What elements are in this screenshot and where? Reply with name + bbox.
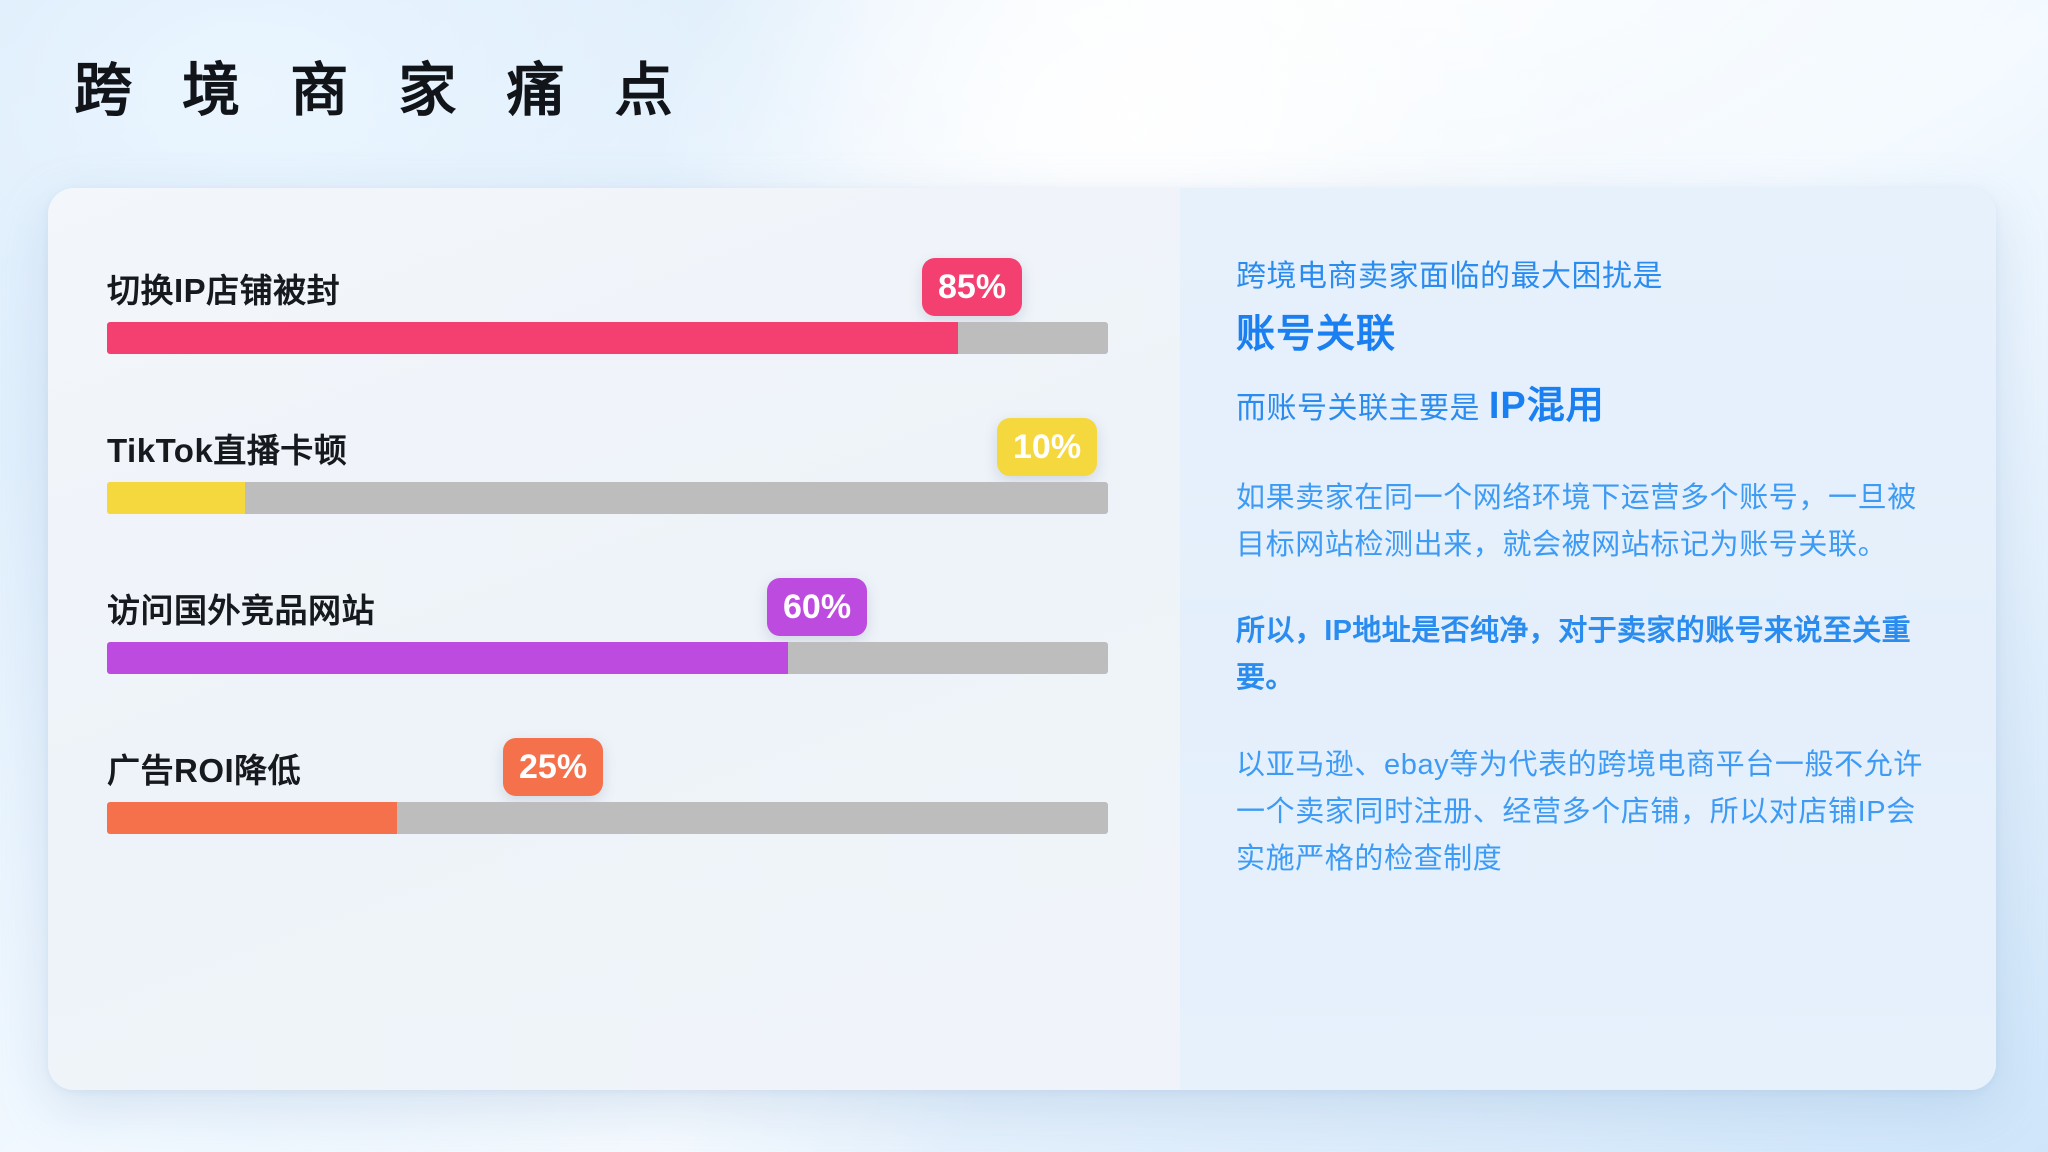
intro-line: 跨境电商卖家面临的最大困扰是 — [1236, 254, 1938, 299]
paragraph-one: 如果卖家在同一个网络环境下运营多个账号，一旦被目标网站检测出来，就会被网站标记为… — [1236, 475, 1938, 569]
bar-header: 广告ROI降低25% — [107, 730, 1108, 794]
bar-track — [107, 642, 1108, 674]
bar-fill — [107, 802, 397, 834]
mixed-line: 而账号关联主要是 IP混用 — [1236, 378, 1938, 435]
bar-chart-panel: 切换IP店铺被封85%TikTok直播卡顿10%访问国外竞品网站60%广告ROI… — [48, 188, 1180, 1090]
page-title: 跨 境 商 家 痛 点 — [74, 62, 690, 120]
bar-row: 广告ROI降低25% — [107, 730, 1108, 794]
bar-track — [107, 802, 1108, 834]
bar-track — [107, 322, 1108, 354]
bar-label: 广告ROI降低 — [107, 744, 301, 792]
bar-header: 访问国外竞品网站60% — [107, 570, 1108, 634]
bar-fill — [107, 482, 245, 514]
content-card: 切换IP店铺被封85%TikTok直播卡顿10%访问国外竞品网站60%广告ROI… — [48, 188, 1996, 1090]
paragraph-three: 以亚马逊、ebay等为代表的跨境电商平台一般不允许一个卖家同时注册、经营多个店铺… — [1236, 742, 1938, 883]
headline-text: 账号关联 — [1236, 307, 1938, 364]
bar-value-badge: 85% — [922, 258, 1022, 316]
bar-value-badge: 10% — [997, 418, 1097, 476]
paragraph-two: 所以，IP地址是否纯净，对于卖家的账号来说至关重要。 — [1236, 608, 1938, 702]
mixed-prefix: 而账号关联主要是 — [1236, 392, 1489, 425]
bar-label: 切换IP店铺被封 — [107, 264, 340, 312]
explanation-panel: 跨境电商卖家面临的最大困扰是 账号关联 而账号关联主要是 IP混用 如果卖家在同… — [1180, 188, 1996, 1090]
bar-label: 访问国外竞品网站 — [107, 584, 375, 632]
bar-label: TikTok直播卡顿 — [107, 424, 347, 472]
bar-header: 切换IP店铺被封85% — [107, 250, 1108, 314]
bar-header: TikTok直播卡顿10% — [107, 410, 1108, 474]
bar-fill — [107, 322, 958, 354]
bar-value-badge: 25% — [503, 738, 603, 796]
bar-track — [107, 482, 1108, 514]
bar-value-badge: 60% — [767, 578, 867, 636]
mixed-strong: IP混用 — [1489, 385, 1605, 427]
bar-row: 切换IP店铺被封85% — [107, 250, 1108, 314]
bar-fill — [107, 642, 788, 674]
bar-row: 访问国外竞品网站60% — [107, 570, 1108, 634]
bar-row: TikTok直播卡顿10% — [107, 410, 1108, 474]
